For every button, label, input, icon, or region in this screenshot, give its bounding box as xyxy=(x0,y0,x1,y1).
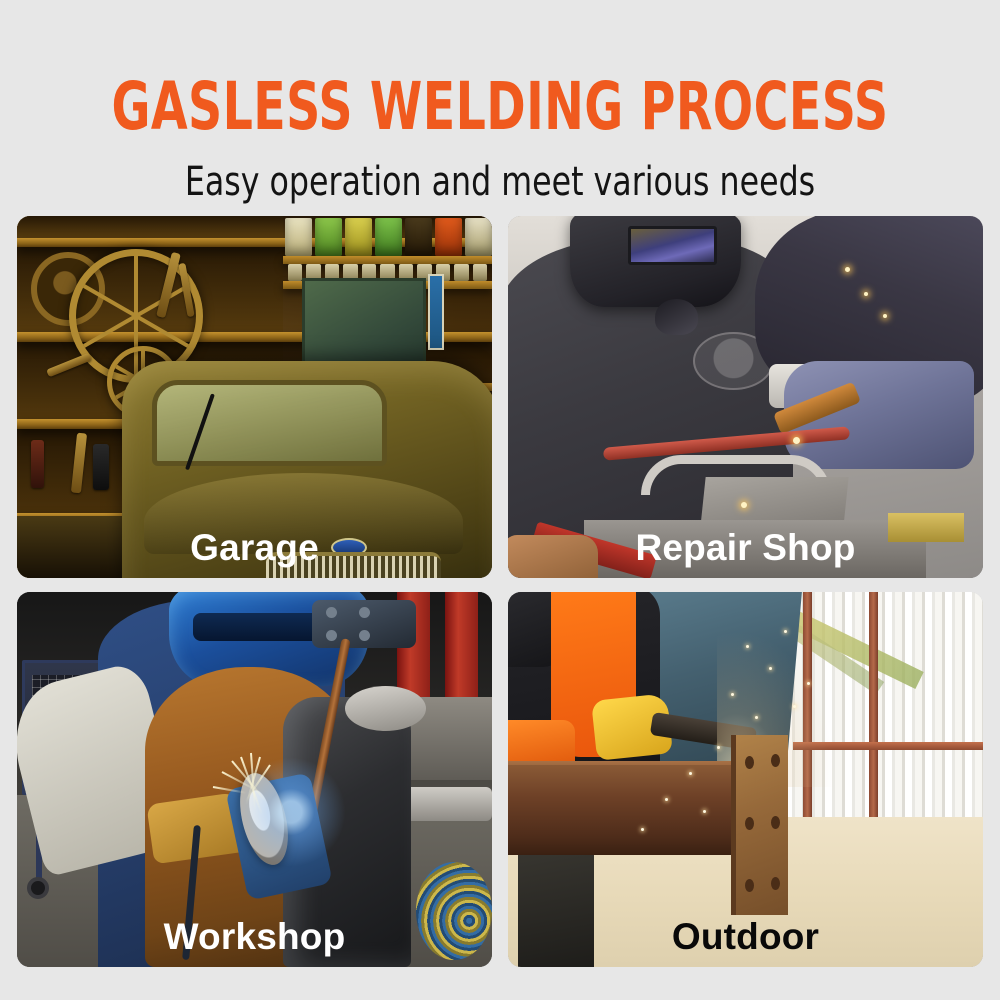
repair-shop-photo xyxy=(508,216,983,578)
tile-label-workshop: Workshop xyxy=(17,915,492,959)
promo-page: GASLESS WELDING PROCESS Easy operation a… xyxy=(0,0,1000,1000)
garage-photo xyxy=(17,216,492,578)
gallery-tile-outdoor[interactable]: Outdoor xyxy=(508,592,983,967)
gallery-tile-repair-shop[interactable]: Repair Shop xyxy=(508,216,983,578)
image-gallery-grid: Garage xyxy=(17,216,983,983)
gallery-tile-garage[interactable]: Garage xyxy=(17,216,492,578)
workshop-photo xyxy=(17,592,492,967)
tile-label-garage: Garage xyxy=(17,526,492,570)
outdoor-photo xyxy=(508,592,983,967)
tile-label-outdoor: Outdoor xyxy=(508,915,983,959)
tile-label-repair-shop: Repair Shop xyxy=(508,526,983,570)
gallery-tile-workshop[interactable]: Workshop xyxy=(17,592,492,967)
page-title: GASLESS WELDING PROCESS xyxy=(100,74,900,140)
header: GASLESS WELDING PROCESS Easy operation a… xyxy=(0,0,1000,216)
page-subtitle: Easy operation and meet various needs xyxy=(60,160,940,204)
